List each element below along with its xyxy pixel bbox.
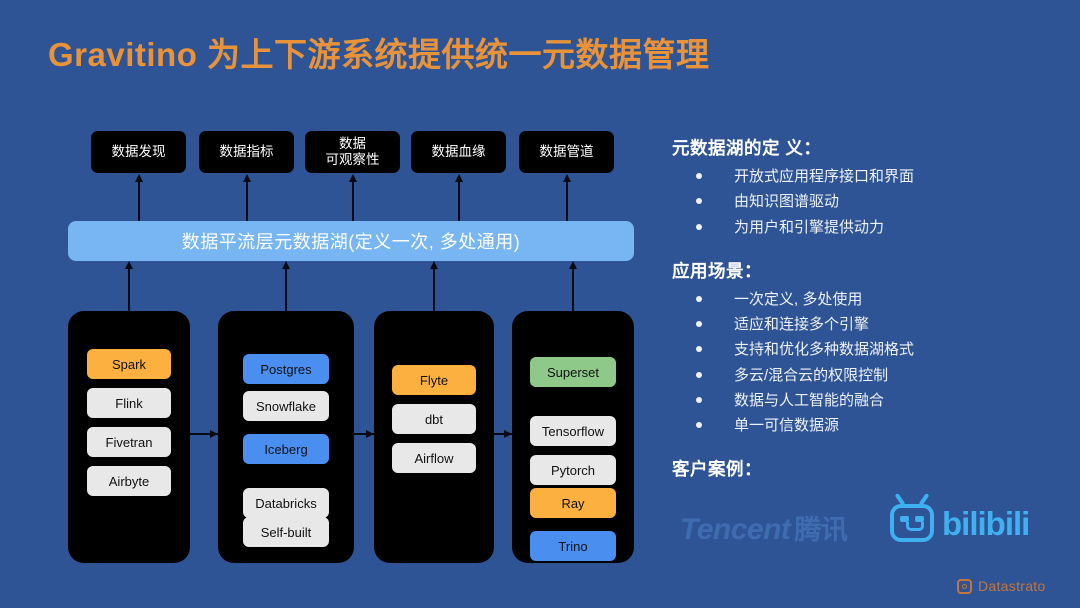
tool-chip-ray[interactable]: Ray [530,488,616,518]
tool-chip-databricks[interactable]: Databricks [243,488,329,518]
top-box-line: 数据指标 [220,144,274,159]
outcome-box-label: 数据可观察性 [326,136,380,169]
stack-connector-line-4 [572,268,574,311]
top-box-line: 数据管道 [540,144,594,159]
bullet-dot-icon [696,224,702,230]
tool-chip-pytorch[interactable]: Pytorch [530,455,616,485]
tool-chip-tensorflow[interactable]: Tensorflow [530,416,616,446]
outcome-box-label: 数据血缘 [432,144,486,160]
list-item: 单一可信数据源 [696,417,1072,434]
tool-chip-iceberg[interactable]: Iceberg [243,434,329,464]
customer-logos: Tencent腾讯 bilibili [672,500,1072,562]
outcome-box-3[interactable]: 数据可观察性 [305,131,400,173]
tool-chip-label: Tensorflow [542,424,604,439]
tool-chip-label: Fivetran [106,435,153,450]
outcome-box-2[interactable]: 数据指标 [199,131,294,173]
section-list-1: 开放式应用程序接口和界面由知识图谱驱动为用户和引擎提供动力 [672,168,1072,236]
datastrato-wordmark: Datastrato [978,578,1046,594]
top-box-line: 数据发现 [112,144,166,159]
outcome-box-label: 数据指标 [220,144,274,160]
metadata-lake-label: 数据平流层元数据湖(定义一次, 多处通用) [182,228,521,254]
tool-chip-label: Pytorch [551,463,595,478]
tool-chip-label: Superset [547,365,599,380]
list-item: 开放式应用程序接口和界面 [696,168,1072,185]
connector-line-up-3 [352,181,354,221]
tool-chip-label: Iceberg [264,442,307,457]
stack-connector-line-1 [128,268,130,311]
tool-chip-dbt[interactable]: dbt [392,404,476,434]
tool-chip-label: Trino [558,539,587,554]
bullet-dot-icon [696,296,702,302]
outcome-box-label: 数据管道 [540,144,594,160]
list-item: 数据与人工智能的融合 [696,392,1072,409]
customer-cases-heading: 客户案例： [672,456,1072,481]
stack-link-arrow-1 [210,430,218,438]
list-item: 多云/混合云的权限控制 [696,367,1072,384]
list-item: 为用户和引擎提供动力 [696,219,1072,236]
tool-chip-airflow[interactable]: Airflow [392,443,476,473]
connector-arrow-up-4 [455,174,463,182]
tool-chip-flink[interactable]: Flink [87,388,171,418]
connector-arrow-up-1 [135,174,143,182]
stack-connector-arrow-1 [125,261,133,269]
datastrato-brand-logo: Datastrato [957,578,1046,594]
connector-line-up-2 [246,181,248,221]
tool-chip-spark[interactable]: Spark [87,349,171,379]
connector-line-up-1 [138,181,140,221]
section-heading-1: 元数据湖的定 义： [672,135,1072,160]
right-content-panel: 元数据湖的定 义：开放式应用程序接口和界面由知识图谱驱动为用户和引擎提供动力应用… [672,135,1072,489]
top-box-line: 可观察性 [326,152,380,167]
top-box-line: 数据 [339,136,366,151]
stack-link-arrow-3 [504,430,512,438]
tool-chip-label: dbt [425,412,443,427]
tool-chip-flyte[interactable]: Flyte [392,365,476,395]
architecture-diagram: 数据发现数据指标数据可观察性数据血缘数据管道数据平流层元数据湖(定义一次, 多处… [0,0,660,608]
outcome-box-5[interactable]: 数据管道 [519,131,614,173]
tool-chip-fivetran[interactable]: Fivetran [87,427,171,457]
bilibili-wordmark: bilibili [942,507,1029,540]
list-item: 由知识图谱驱动 [696,193,1072,210]
orchestration-stack: FlytedbtAirflow [374,311,494,563]
tool-chip-label: Databricks [255,496,316,511]
tencent-logo-en: Tencent [680,513,790,546]
stack-connector-arrow-4 [569,261,577,269]
metadata-lake-bar[interactable]: 数据平流层元数据湖(定义一次, 多处通用) [68,221,634,261]
stack-connector-line-3 [433,268,435,311]
bullet-dot-icon [696,198,702,204]
tool-chip-airbyte[interactable]: Airbyte [87,466,171,496]
connector-arrow-up-2 [243,174,251,182]
slide-canvas: Gravitino 为上下游系统提供统一元数据管理 数据发现数据指标数据可观察性… [0,0,1080,608]
storage-stack: PostgresSnowflakeIcebergDatabricksSelf-b… [218,311,354,563]
bilibili-tv-icon [890,504,934,542]
bullet-dot-icon [696,346,702,352]
list-item: 适应和连接多个引擎 [696,316,1072,333]
stack-connector-line-2 [285,268,287,311]
section-heading-2: 应用场景： [672,258,1072,283]
tool-chip-postgres[interactable]: Postgres [243,354,329,384]
connector-arrow-up-5 [563,174,571,182]
tool-chip-label: Postgres [260,362,311,377]
tencent-logo-cn: 腾讯 [794,515,847,545]
tool-chip-label: Airbyte [109,474,149,489]
outcome-box-1[interactable]: 数据发现 [91,131,186,173]
stack-connector-arrow-3 [430,261,438,269]
ingestion-stack: SparkFlinkFivetranAirbyte [68,311,190,563]
tool-chip-label: Airflow [414,451,453,466]
bullet-dot-icon [696,422,702,428]
bullet-dot-icon [696,372,702,378]
consumption-stack: SupersetTensorflowPytorchRayTrino [512,311,634,563]
list-item: 支持和优化多种数据湖格式 [696,341,1072,358]
tool-chip-label: Flyte [420,373,448,388]
tool-chip-label: Snowflake [256,399,316,414]
outcome-box-label: 数据发现 [112,144,166,160]
tool-chip-snowflake[interactable]: Snowflake [243,391,329,421]
connector-line-up-4 [458,181,460,221]
bullet-dot-icon [696,173,702,179]
top-box-line: 数据血缘 [432,144,486,159]
datastrato-mark-icon [957,579,972,594]
tool-chip-trino[interactable]: Trino [530,531,616,561]
bilibili-logo: bilibili [890,504,1029,542]
tool-chip-label: Flink [115,396,142,411]
tool-chip-superset[interactable]: Superset [530,357,616,387]
list-item: 一次定义, 多处使用 [696,291,1072,308]
tool-chip-label: Spark [112,357,146,372]
bullet-dot-icon [696,321,702,327]
connector-arrow-up-3 [349,174,357,182]
stack-connector-arrow-2 [282,261,290,269]
tool-chip-label: Self-built [261,525,312,540]
tencent-logo: Tencent腾讯 [680,508,847,547]
section-list-2: 一次定义, 多处使用适应和连接多个引擎支持和优化多种数据湖格式多云/混合云的权限… [672,291,1072,435]
stack-link-arrow-2 [366,430,374,438]
tool-chip-label: Ray [561,496,584,511]
outcome-box-4[interactable]: 数据血缘 [411,131,506,173]
tool-chip-self-built[interactable]: Self-built [243,517,329,547]
bilibili-mouth-icon [906,522,924,531]
connector-line-up-5 [566,181,568,221]
bullet-dot-icon [696,397,702,403]
